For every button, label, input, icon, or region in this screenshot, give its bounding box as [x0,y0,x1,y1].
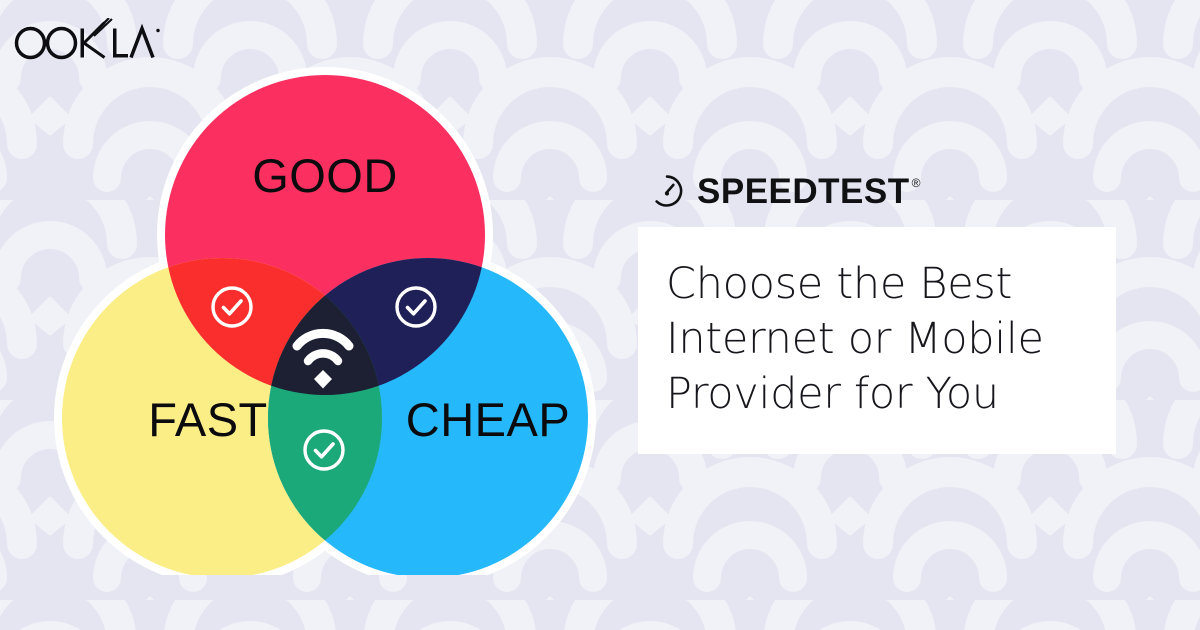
venn-label-cheap: CHEAP [406,393,570,446]
ookla-letter-a [131,29,153,58]
venn-label-good: GOOD [252,149,398,202]
speedtest-logo-lockup: SPEEDTEST® [650,165,1130,217]
ookla-letter-o-2 [48,29,76,58]
ookla-letter-k [81,18,113,58]
promo-text-column: SPEEDTEST® Choose the Best Internet or M… [638,165,1130,454]
speedtest-wordmark-text: SPEEDTEST [697,172,910,211]
speedtest-registered-mark: ® [912,176,921,190]
ookla-letter-l [113,29,128,58]
ookla-registered-mark [156,29,159,32]
ookla-letter-o-1 [17,29,45,58]
page-title: Choose the Best Internet or Mobile Provi… [666,257,1086,422]
speedtest-promo-banner: GOOD FAST CHEAP [0,0,1200,630]
speedometer-gauge-icon [650,174,684,208]
headline-line-1: Choose the Best [666,257,1086,312]
speedtest-wordmark: SPEEDTEST® [697,174,918,209]
good-fast-cheap-venn-diagram: GOOD FAST CHEAP [40,55,610,575]
headline-card: Choose the Best Internet or Mobile Provi… [638,227,1116,454]
venn-label-fast: FAST [148,393,268,446]
headline-line-2: Internet or Mobile [666,312,1086,367]
headline-line-3: Provider for You [666,367,1086,422]
ookla-logo [14,18,162,60]
